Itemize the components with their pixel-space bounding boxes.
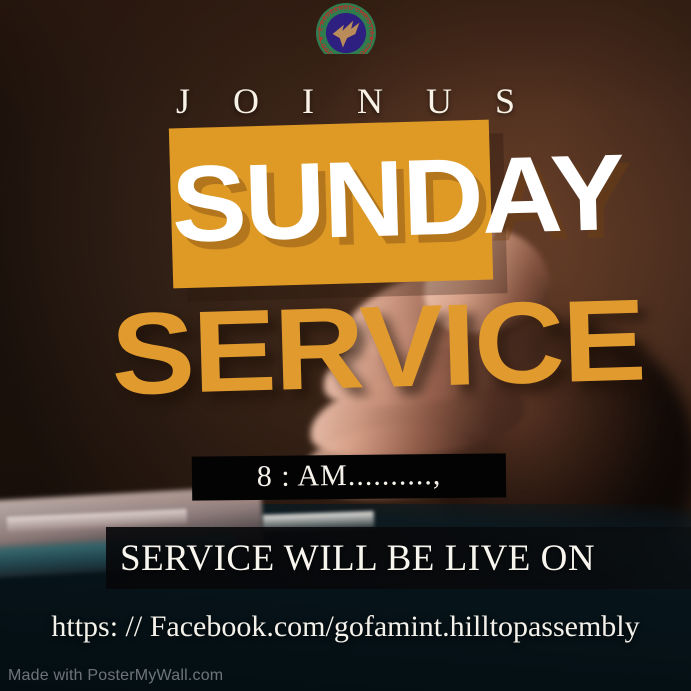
dove-emblem-icon: THE REDEEMED CHRISTIAN ★ CHURCH OF GOD ★ [315,2,377,54]
service-time-text: 8 : AM.........., [257,458,442,494]
postermywall-watermark: Made with PosterMyWall.com [8,667,223,685]
headline-sunday: SUNDAY [170,145,505,254]
kicker-join-us: J O I N U S [0,80,691,122]
live-notice-bar: SERVICE WILL BE LIVE ON [106,527,691,589]
poster-canvas: THE REDEEMED CHRISTIAN ★ CHURCH OF GOD ★… [0,0,691,691]
church-logo: THE REDEEMED CHRISTIAN ★ CHURCH OF GOD ★ [315,2,377,54]
live-notice-text: SERVICE WILL BE LIVE ON [106,537,595,580]
facebook-url-link[interactable]: https: // Facebook.com/gofamint.hilltopa… [0,610,691,644]
headline-service: SERVICE [110,284,567,413]
service-time-bar: 8 : AM.........., [192,453,506,500]
